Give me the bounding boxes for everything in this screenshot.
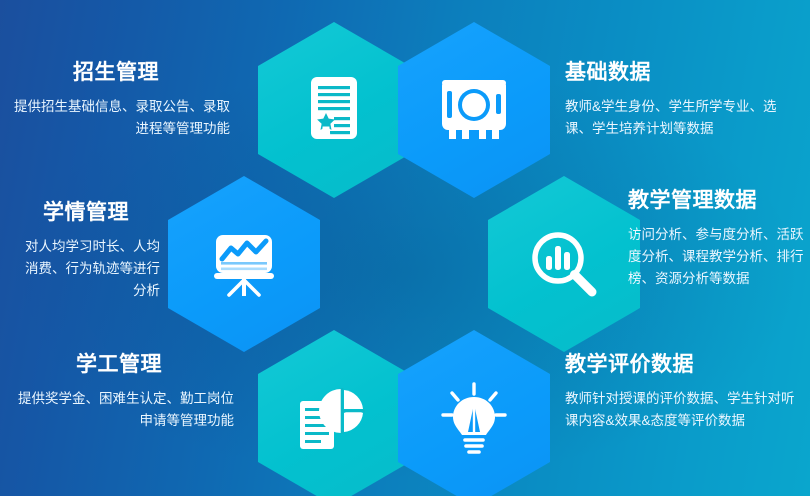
block-desc-jiaoxue-guanli-shuju: 访问分析、参与度分析、活跃度分析、课程教学分析、排行榜、资源分析等数据 bbox=[628, 224, 804, 290]
hex-tile-xueqing-guanli[interactable] bbox=[168, 176, 320, 352]
block-title-jiaoxue-guanli-shuju: 教学管理数据 bbox=[628, 188, 804, 213]
block-title-xuegong-guanli: 学工管理 bbox=[8, 352, 234, 377]
presentation-chart-icon bbox=[209, 229, 279, 299]
document-pie-chart-icon bbox=[296, 383, 372, 453]
block-desc-xuegong-guanli: 提供奖学金、困难生认定、勤工岗位申请等管理功能 bbox=[8, 388, 234, 432]
magnifier-bar-chart-icon bbox=[528, 228, 600, 300]
text-block-jiaoxue-pingjia-shuju: 教学评价数据 教师针对授课的评价数据、学生针对听课内容&效果&态度等评价数据 bbox=[565, 352, 805, 432]
certificate-document-icon bbox=[303, 75, 365, 145]
block-desc-xueqing-guanli: 对人均学习时长、人均消费、行为轨迹等进行分析 bbox=[12, 236, 160, 302]
lightbulb-icon bbox=[435, 380, 513, 456]
block-title-jiaoxue-pingjia-shuju: 教学评价数据 bbox=[565, 352, 805, 377]
safe-vault-icon bbox=[437, 77, 511, 143]
block-desc-jichu-shuju: 教师&学生身份、学生所学专业、选课、学生培养计划等数据 bbox=[565, 96, 803, 140]
block-title-zhaosheng-guanli: 招生管理 bbox=[8, 60, 230, 85]
text-block-zhaosheng-guanli: 招生管理 提供招生基础信息、录取公告、录取进程等管理功能 bbox=[8, 60, 230, 140]
text-block-jichu-shuju: 基础数据 教师&学生身份、学生所学专业、选课、学生培养计划等数据 bbox=[565, 60, 803, 140]
text-block-xuegong-guanli: 学工管理 提供奖学金、困难生认定、勤工岗位申请等管理功能 bbox=[8, 352, 234, 432]
text-block-xueqing-guanli: 学情管理 对人均学习时长、人均消费、行为轨迹等进行分析 bbox=[12, 200, 160, 302]
hex-tile-zhaosheng-guanli[interactable] bbox=[258, 22, 410, 198]
hex-tile-jiaoxue-pingjia-shuju[interactable] bbox=[398, 330, 550, 496]
hex-tile-jichu-shuju[interactable] bbox=[398, 22, 550, 198]
block-title-xueqing-guanli: 学情管理 bbox=[12, 200, 160, 225]
block-desc-jiaoxue-pingjia-shuju: 教师针对授课的评价数据、学生针对听课内容&效果&态度等评价数据 bbox=[565, 388, 805, 432]
hex-tile-xuegong-guanli[interactable] bbox=[258, 330, 410, 496]
block-title-jichu-shuju: 基础数据 bbox=[565, 60, 803, 85]
hex-tile-jiaoxue-guanli-shuju[interactable] bbox=[488, 176, 640, 352]
block-desc-zhaosheng-guanli: 提供招生基础信息、录取公告、录取进程等管理功能 bbox=[8, 96, 230, 140]
text-block-jiaoxue-guanli-shuju: 教学管理数据 访问分析、参与度分析、活跃度分析、课程教学分析、排行榜、资源分析等… bbox=[628, 188, 804, 290]
infographic-canvas: 招生管理 提供招生基础信息、录取公告、录取进程等管理功能 基础数据 教师&学生身… bbox=[0, 0, 810, 496]
